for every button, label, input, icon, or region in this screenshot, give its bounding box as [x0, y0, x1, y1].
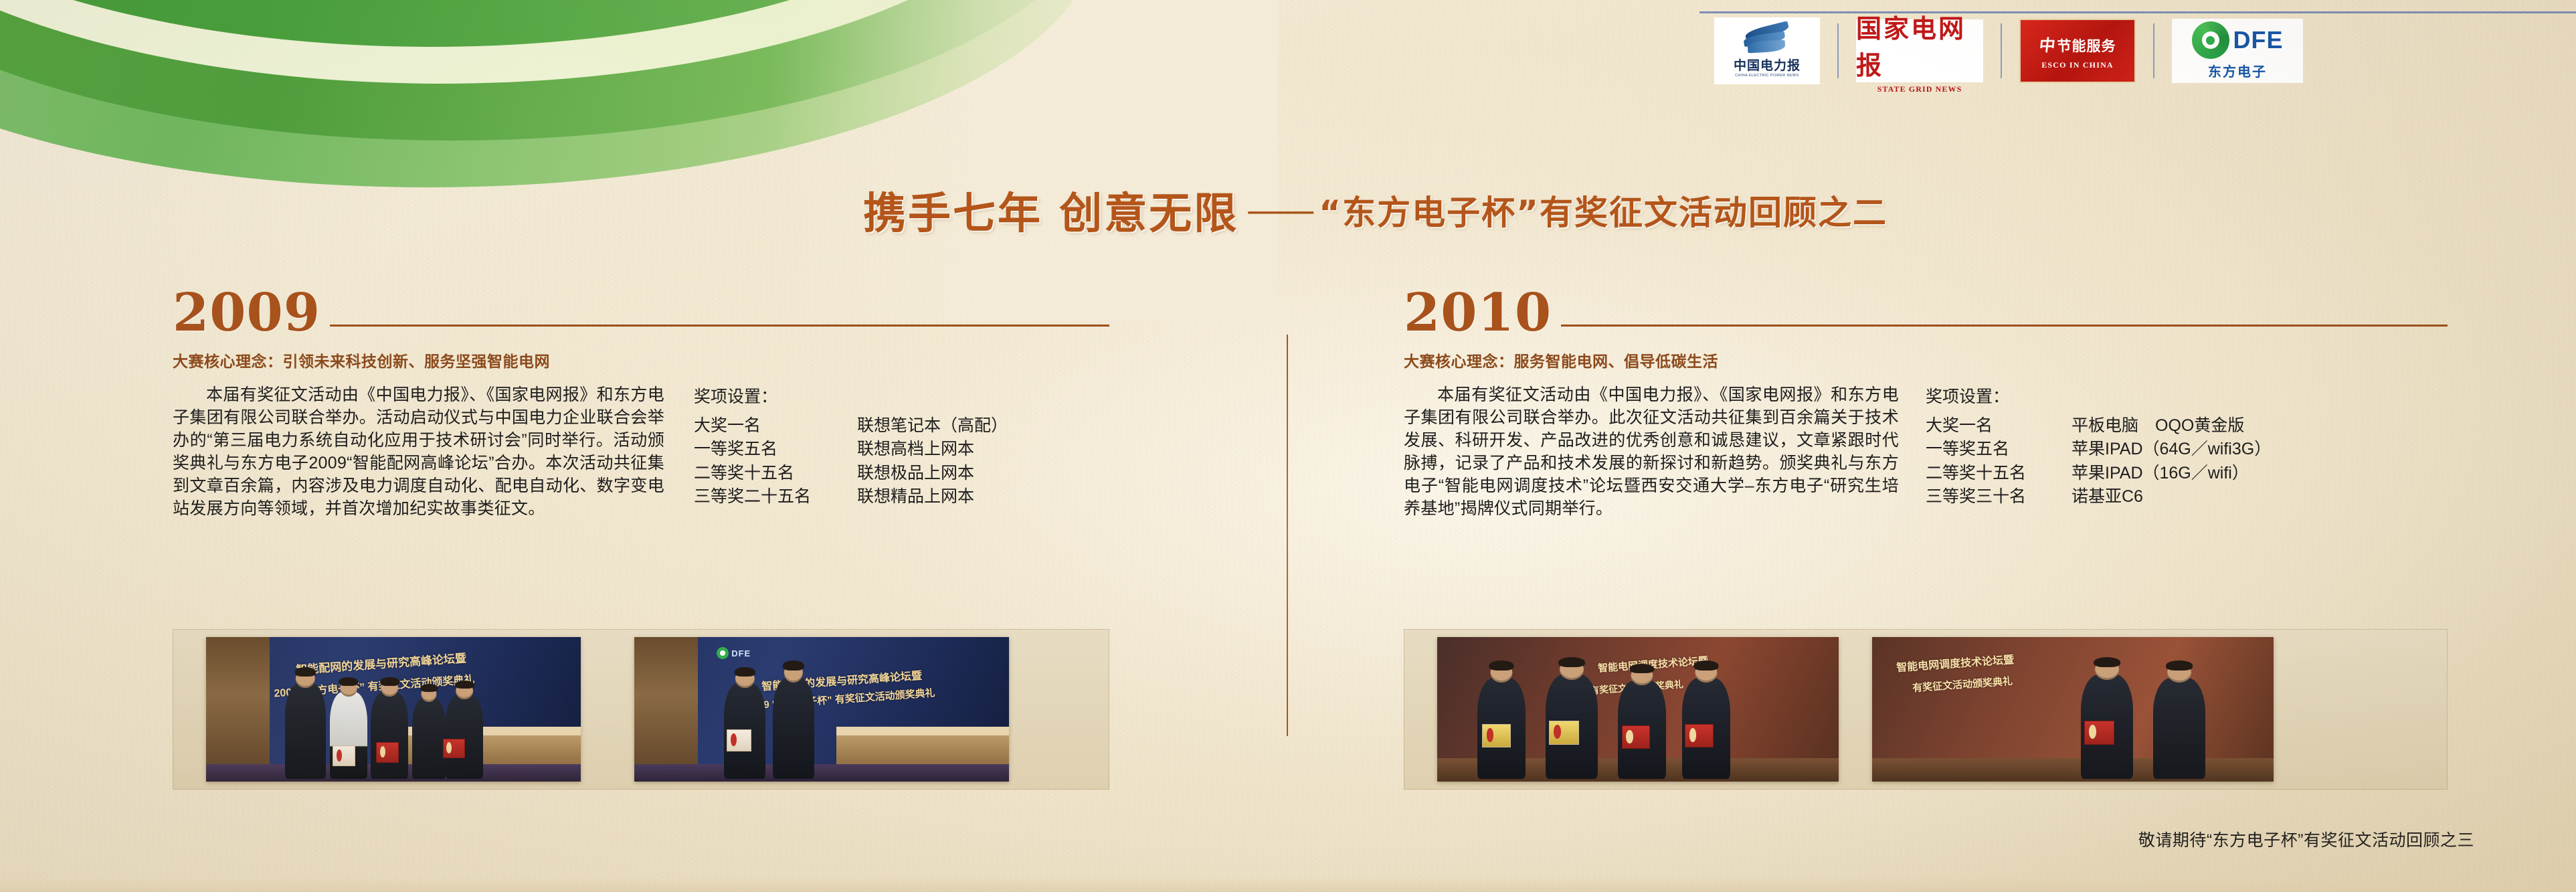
cepn-bird-icon: [1742, 25, 1792, 54]
awards-title: 奖项设置：: [694, 383, 1008, 408]
body-text-2009: 本届有奖征文活动由《中国电力报》、《国家电网报》和东方电子集团有限公司联合举办。…: [173, 383, 664, 520]
logo-state-grid-news: 国家电网报 STATE GRID NEWS: [1839, 20, 2001, 82]
year-heading-2009: 2009: [173, 289, 1109, 337]
concept-2009: 大赛核心理念：引领未来科技创新、服务坚强智能电网: [173, 349, 1109, 371]
concept-2010: 大赛核心理念：服务智能电网、倡导低碳生活: [1404, 349, 2448, 371]
photo-2010-ceremony-1: 智能电网调度技术论坛暨 有奖征文活动颁奖典礼: [1437, 637, 1839, 782]
award-prize: 诺基亚C6: [2072, 485, 2143, 509]
awards-2010: 奖项设置： 大奖一名 平板电脑 OQO黄金版 一等奖五名 苹果IPAD（64G／…: [1926, 383, 2271, 520]
year-rule: [1561, 325, 2448, 327]
year-rule: [330, 325, 1109, 327]
bottom-shade-band: [0, 877, 2576, 892]
award-rank: 三等奖二十五名: [694, 485, 857, 509]
award-rank: 一等奖五名: [694, 438, 857, 462]
dfe-zh-label: 东方电子: [2208, 61, 2267, 80]
year-label: 2009: [173, 289, 320, 337]
award-row: 大奖一名 联想笔记本（高配）: [694, 414, 1008, 438]
column-divider: [1287, 335, 1288, 736]
body-text-2010: 本届有奖征文活动由《中国电力报》、《国家电网报》和东方电子集团有限公司联合举办。…: [1404, 383, 1899, 520]
photo-strip-2009: 智能配网的发展与研究高峰论坛暨 2009 “东方电子杯” 有奖征文活动颁奖典礼 …: [173, 629, 1109, 790]
body-paragraph: 本届有奖征文活动由《中国电力报》、《国家电网报》和东方电子集团有限公司联合举办。…: [173, 383, 664, 520]
award-row: 一等奖五名 联想高档上网本: [694, 438, 1008, 462]
year-label: 2010: [1404, 289, 1552, 337]
award-row: 二等奖十五名 联想极品上网本: [694, 462, 1008, 486]
green-swoosh-graphic: [0, 0, 1278, 321]
award-prize: 联想精品上网本: [857, 485, 974, 509]
poster-canvas: 中国电力报 CHINA ELECTRIC POWER NEWS 国家电网报 ST…: [0, 0, 2576, 892]
award-prize: 联想高档上网本: [857, 438, 974, 462]
year-heading-2010: 2010: [1404, 289, 2448, 337]
award-row: 二等奖十五名 苹果IPAD（16G／wifi）: [1926, 462, 2271, 486]
footer-teaser: 敬请期待“东方电子杯”有奖征文活动回顾之三: [2138, 827, 2474, 851]
logo-china-electric-power-news: 中国电力报 CHINA ELECTRIC POWER NEWS: [1697, 20, 1837, 82]
dfe-swirl-icon: [2192, 21, 2229, 59]
award-rank: 二等奖十五名: [1926, 462, 2072, 486]
award-row: 一等奖五名 苹果IPAD（64G／wifi3G）: [1926, 438, 2271, 462]
award-rank: 二等奖十五名: [694, 462, 857, 486]
photo-2010-ceremony-2: 智能电网调度技术论坛暨 有奖征文活动颁奖典礼: [1872, 637, 2274, 782]
esco-zh-label: 节能服务: [2057, 35, 2116, 56]
title-dash: ——: [1248, 190, 1309, 230]
award-rank: 大奖一名: [1926, 414, 2072, 438]
section-2010: 2010 大赛核心理念：服务智能电网、倡导低碳生活 本届有奖征文活动由《中国电力…: [1404, 289, 2448, 520]
award-rank: 大奖一名: [694, 414, 857, 438]
sponsor-logo-bar: 中国电力报 CHINA ELECTRIC POWER NEWS 国家电网报 ST…: [1686, 0, 2576, 86]
cepn-zh-label: 中国电力报: [1734, 56, 1801, 74]
section-2009: 2009 大赛核心理念：引领未来科技创新、服务坚强智能电网 本届有奖征文活动由《…: [173, 289, 1109, 520]
photo-2009-ceremony-2: DFE 智能配网的发展与研究高峰论坛暨 2009 “东方电子杯” 有奖征文活动颁…: [634, 637, 1009, 782]
award-rank: 三等奖三十名: [1926, 485, 2072, 509]
award-row: 三等奖三十名 诺基亚C6: [1926, 485, 2271, 509]
award-row: 大奖一名 平板电脑 OQO黄金版: [1926, 414, 2271, 438]
title-subtitle: “东方电子杯”有奖征文活动回顾之二: [1319, 186, 1888, 234]
logo-bar-rule: [1699, 11, 2576, 13]
poster-title: 携手七年 创意无限 —— “东方电子杯”有奖征文活动回顾之二: [863, 179, 1888, 241]
awards-title: 奖项设置：: [1926, 383, 2271, 408]
award-row: 三等奖二十五名 联想精品上网本: [694, 485, 1008, 509]
award-prize: 联想极品上网本: [857, 462, 974, 486]
sgn-zh-label: 国家电网报: [1856, 8, 1983, 82]
dfe-letters: DFE: [2233, 26, 2284, 54]
cepn-en-label: CHINA ELECTRIC POWER NEWS: [1735, 74, 1799, 78]
logo-dongfang-electronics: DFE 东方电子: [2154, 20, 2320, 82]
award-prize: 苹果IPAD（64G／wifi3G）: [2072, 438, 2271, 462]
esco-en-label: ESCO IN CHINA: [2041, 60, 2114, 70]
awards-2009: 奖项设置： 大奖一名 联想笔记本（高配） 一等奖五名 联想高档上网本 二等奖十五…: [694, 383, 1008, 520]
photo-strip-2010: 智能电网调度技术论坛暨 有奖征文活动颁奖典礼 智能电网调度技术论坛暨 有奖征文活…: [1404, 629, 2448, 790]
award-prize: 联想笔记本（高配）: [857, 414, 1008, 438]
title-main: 携手七年 创意无限: [863, 179, 1238, 241]
photo-2009-ceremony-1: 智能配网的发展与研究高峰论坛暨 2009 “东方电子杯” 有奖征文活动颁奖典礼: [206, 637, 581, 782]
photo-dfe-logo-icon: DFE: [717, 647, 751, 659]
award-prize: 平板电脑 OQO黄金版: [2072, 414, 2244, 438]
logo-esco-in-china: 中 节能服务 ESCO IN CHINA: [2002, 20, 2153, 82]
award-rank: 一等奖五名: [1926, 438, 2072, 462]
esco-zh-prefix: 中: [2038, 32, 2057, 56]
award-prize: 苹果IPAD（16G／wifi）: [2072, 462, 2249, 486]
sgn-en-label: STATE GRID NEWS: [1877, 84, 1962, 94]
body-paragraph: 本届有奖征文活动由《中国电力报》、《国家电网报》和东方电子集团有限公司联合举办。…: [1404, 383, 1899, 520]
